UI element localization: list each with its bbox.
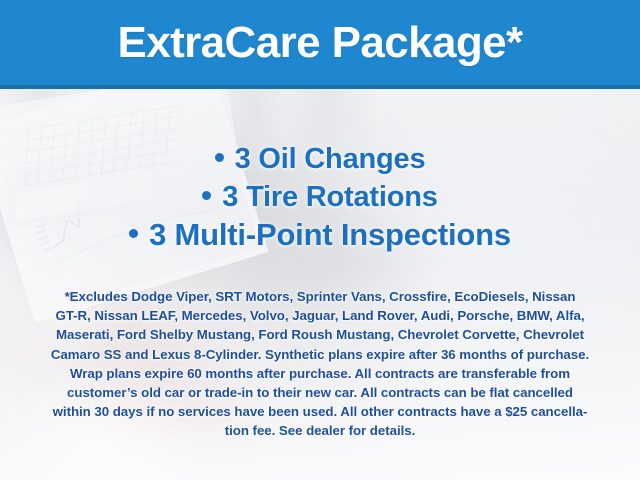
list-item: 3 Tire Rotations [0,178,640,216]
extracare-package-ad: ExtraCare Package* 3 Oil Changes 3 Tire … [0,0,640,480]
bullet-dot-icon [202,191,211,200]
page-title: ExtraCare Package* [0,16,640,70]
disclaimer-line: within 30 days if no services have been … [18,402,622,421]
benefit-label: 3 Tire Rotations [222,181,437,213]
disclaimer-line: *Excludes Dodge Viper, SRT Motors, Sprin… [18,287,622,306]
bullet-dot-icon [215,153,224,162]
bullet-dot-icon [129,229,138,238]
disclaimer-line: Maserati, Ford Shelby Mustang, Ford Rous… [18,325,622,344]
benefit-label: 3 Multi-Point Inspections [149,217,511,252]
disclaimer-line: Camaro SS and Lexus 8-Cylinder. Syntheti… [18,345,622,364]
benefit-label: 3 Oil Changes [235,143,426,175]
disclaimer-text: *Excludes Dodge Viper, SRT Motors, Sprin… [18,287,622,441]
benefits-list: 3 Oil Changes 3 Tire Rotations 3 Multi-P… [0,140,640,254]
header-banner-rule [0,85,640,89]
list-item: 3 Multi-Point Inspections [0,216,640,254]
disclaimer-line: Wrap plans expire 60 months after purcha… [18,364,622,383]
disclaimer-line: GT-R, Nissan LEAF, Mercedes, Volvo, Jagu… [18,306,622,325]
disclaimer-line: customer’s old car or trade-in to their … [18,383,622,402]
list-item: 3 Oil Changes [0,140,640,178]
disclaimer-line: tion fee. See dealer for details. [18,421,622,440]
